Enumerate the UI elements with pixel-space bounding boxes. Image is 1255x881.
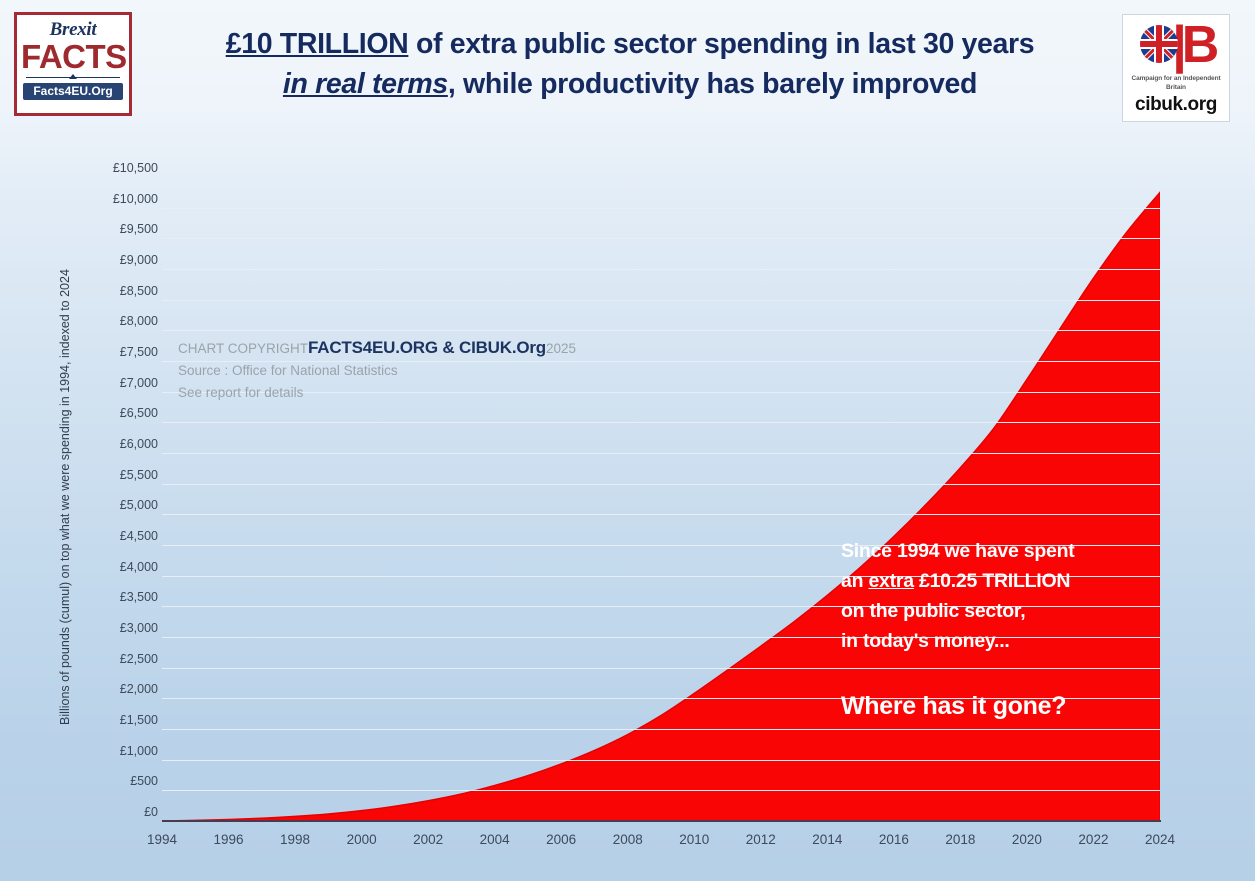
annotation-line-4: in today's money... xyxy=(841,626,1075,656)
gridline xyxy=(162,177,1160,178)
area-chart: Billions of pounds (cumul) on top what w… xyxy=(0,0,1255,881)
x-axis-tick-label: 2012 xyxy=(726,832,796,847)
x-axis-tick-label: 1998 xyxy=(260,832,330,847)
x-axis-tick-label: 2016 xyxy=(859,832,929,847)
y-axis-tick-label: £8,000 xyxy=(92,314,158,328)
y-axis-tick-label: £1,000 xyxy=(92,744,158,758)
y-axis-tick-label: £6,000 xyxy=(92,437,158,451)
gridline xyxy=(162,514,1160,515)
x-axis-tick-label: 2024 xyxy=(1125,832,1195,847)
y-axis-tick-label: £2,500 xyxy=(92,652,158,666)
gridline xyxy=(162,453,1160,454)
gridline xyxy=(162,790,1160,791)
gridline xyxy=(162,484,1160,485)
y-axis-tick-labels: £10,500£10,000£9,500£9,000£8,500£8,000£7… xyxy=(92,168,158,830)
annotation-line-2-a: an xyxy=(841,570,868,592)
y-axis-tick-label: £10,500 xyxy=(92,161,158,175)
y-axis-tick-label: £10,000 xyxy=(92,192,158,206)
y-axis-tick-label: £0 xyxy=(92,805,158,819)
y-axis-tick-label: £500 xyxy=(92,774,158,788)
x-axis-tick-label: 1996 xyxy=(194,832,264,847)
y-axis-tick-label: £2,000 xyxy=(92,682,158,696)
y-axis-tick-label: £9,000 xyxy=(92,253,158,267)
gridline xyxy=(162,269,1160,270)
copyright-owners: FACTS4EU.ORG & CIBUK.Org xyxy=(308,338,546,357)
y-axis-tick-label: £3,500 xyxy=(92,590,158,604)
copyright-note: See report for details xyxy=(178,382,576,404)
area-series-svg xyxy=(162,177,1160,821)
area-series-path xyxy=(162,192,1160,821)
gridline xyxy=(162,330,1160,331)
x-axis-tick-labels: 1994199619982000200220042006200820102012… xyxy=(162,832,1160,856)
x-axis-tick-label: 2014 xyxy=(792,832,862,847)
y-axis-tick-label: £4,500 xyxy=(92,529,158,543)
x-axis-tick-label: 2018 xyxy=(925,832,995,847)
plot-area xyxy=(162,177,1160,821)
y-axis-title: Billions of pounds (cumul) on top what w… xyxy=(58,167,72,827)
x-axis-tick-label: 2004 xyxy=(460,832,530,847)
y-axis-tick-label: £8,500 xyxy=(92,284,158,298)
y-axis-tick-label: £7,500 xyxy=(92,345,158,359)
y-axis-tick-label: £3,000 xyxy=(92,621,158,635)
y-axis-tick-label: £7,000 xyxy=(92,376,158,390)
chart-copyright-block: CHART COPYRIGHTFACTS4EU.ORG & CIBUK.Org2… xyxy=(178,337,576,404)
x-axis-tick-label: 2022 xyxy=(1058,832,1128,847)
gridline xyxy=(162,238,1160,239)
annotation-line-3: on the public sector, xyxy=(841,596,1075,626)
annotation-line-1: Since 1994 we have spent xyxy=(841,536,1075,566)
copyright-prefix: CHART COPYRIGHT xyxy=(178,341,308,356)
gridline xyxy=(162,729,1160,730)
x-axis-tick-label: 2000 xyxy=(327,832,397,847)
y-axis-tick-label: £4,000 xyxy=(92,560,158,574)
x-axis-tick-label: 2002 xyxy=(393,832,463,847)
y-axis-tick-label: £5,000 xyxy=(92,498,158,512)
x-axis-line xyxy=(162,820,1161,822)
y-axis-tick-label: £9,500 xyxy=(92,222,158,236)
x-axis-tick-label: 2008 xyxy=(593,832,663,847)
gridline xyxy=(162,300,1160,301)
annotation-question: Where has it gone? xyxy=(841,690,1075,722)
x-axis-tick-label: 2010 xyxy=(659,832,729,847)
gridline xyxy=(162,760,1160,761)
gridline xyxy=(162,208,1160,209)
chart-page: Brexit FACTS Facts4EU.Org £10 TRILLION o… xyxy=(0,0,1255,881)
copyright-year: 2025 xyxy=(546,341,576,356)
y-axis-tick-label: £1,500 xyxy=(92,713,158,727)
annotation-line-2: an extra £10.25 TRILLION xyxy=(841,566,1075,596)
y-axis-tick-label: £5,500 xyxy=(92,468,158,482)
x-axis-tick-label: 2020 xyxy=(992,832,1062,847)
gridline xyxy=(162,422,1160,423)
y-axis-tick-label: £6,500 xyxy=(92,406,158,420)
chart-annotation: Since 1994 we have spent an extra £10.25… xyxy=(841,536,1075,722)
x-axis-tick-label: 2006 xyxy=(526,832,596,847)
copyright-source: Source : Office for National Statistics xyxy=(178,360,576,382)
copyright-line: CHART COPYRIGHTFACTS4EU.ORG & CIBUK.Org2… xyxy=(178,337,576,360)
annotation-emphasis: extra xyxy=(868,570,913,592)
x-axis-tick-label: 1994 xyxy=(127,832,197,847)
annotation-line-2-b: £10.25 TRILLION xyxy=(914,570,1070,592)
